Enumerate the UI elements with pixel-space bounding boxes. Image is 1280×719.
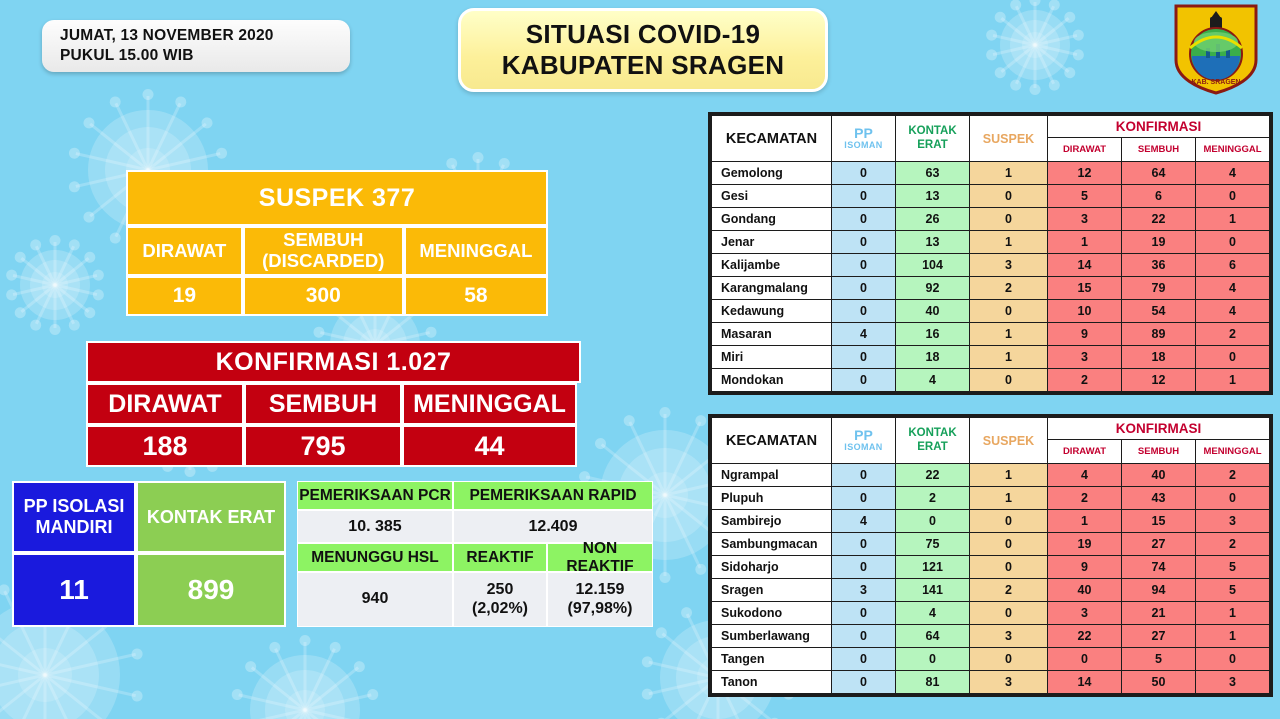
header-bar: JUMAT, 13 NOVEMBER 2020 PUKUL 15.00 WIB …	[0, 0, 1280, 100]
kabupaten-sragen-crest-icon: KAB. SRAGEN	[1170, 2, 1262, 96]
cell-suspek: 0	[970, 533, 1048, 556]
cell-kontak-erat: 4	[896, 369, 970, 392]
cell-pp-isoman: 0	[832, 556, 896, 579]
cell-dirawat: 0	[1048, 648, 1122, 671]
cell-suspek: 0	[970, 556, 1048, 579]
cell-sembuh: 6	[1122, 185, 1196, 208]
table-row: Ngrampal02214402	[712, 464, 1270, 487]
cell-kontak-erat: 92	[896, 277, 970, 300]
cell-kontak-erat: 0	[896, 648, 970, 671]
cell-kontak-erat: 22	[896, 464, 970, 487]
cell-kontak-erat: 75	[896, 533, 970, 556]
cell-meninggal: 6	[1196, 254, 1270, 277]
reaktif-percent: (2,02%)	[472, 600, 528, 619]
cell-meninggal: 4	[1196, 162, 1270, 185]
date-time-card: JUMAT, 13 NOVEMBER 2020 PUKUL 15.00 WIB	[42, 20, 350, 72]
cell-meninggal: 3	[1196, 671, 1270, 694]
suspek-value-sembuh: 300	[243, 276, 404, 316]
cell-sembuh: 5	[1122, 648, 1196, 671]
konfirmasi-summary-panel: KONFIRMASI 1.027 DIRAWAT SEMBUH MENINGGA…	[86, 341, 581, 467]
cell-kecamatan: Karangmalang	[712, 277, 832, 300]
cell-dirawat: 3	[1048, 602, 1122, 625]
cell-suspek: 2	[970, 579, 1048, 602]
cell-kecamatan: Kedawung	[712, 300, 832, 323]
cell-pp-isoman: 4	[832, 510, 896, 533]
cell-sembuh: 12	[1122, 369, 1196, 392]
cell-suspek: 1	[970, 487, 1048, 510]
cell-sembuh: 79	[1122, 277, 1196, 300]
cell-kontak-erat: 13	[896, 231, 970, 254]
pemeriksaan-panel: PEMERIKSAAN PCR PEMERIKSAAN RAPID 10. 38…	[297, 481, 653, 627]
th-pp-main: PP	[832, 428, 895, 443]
cell-sembuh: 15	[1122, 510, 1196, 533]
cell-kecamatan: Gemolong	[712, 162, 832, 185]
table-row: Sragen3141240945	[712, 579, 1270, 602]
cell-meninggal: 2	[1196, 323, 1270, 346]
cell-dirawat: 40	[1048, 579, 1122, 602]
cell-meninggal: 0	[1196, 346, 1270, 369]
cell-meninggal: 1	[1196, 625, 1270, 648]
reaktif-header: REAKTIF	[453, 543, 547, 572]
table-row: Sumberlawang064322271	[712, 625, 1270, 648]
th-konfirmasi: KONFIRMASI	[1048, 418, 1270, 440]
table-row: Sukodono0403211	[712, 602, 1270, 625]
cell-kecamatan: Sambungmacan	[712, 533, 832, 556]
cell-kecamatan: Gesi	[712, 185, 832, 208]
table-row: Gesi0130560	[712, 185, 1270, 208]
cell-kontak-erat: 0	[896, 510, 970, 533]
cell-pp-isoman: 0	[832, 602, 896, 625]
cell-meninggal: 0	[1196, 231, 1270, 254]
cell-kecamatan: Masaran	[712, 323, 832, 346]
cell-sembuh: 36	[1122, 254, 1196, 277]
cell-pp-isoman: 3	[832, 579, 896, 602]
konfirmasi-value-dirawat: 188	[86, 425, 244, 467]
cell-suspek: 3	[970, 625, 1048, 648]
suspek-value-meninggal: 58	[404, 276, 548, 316]
table-row: Mondokan0402121	[712, 369, 1270, 392]
pp-isoman-value: 11	[12, 553, 136, 627]
cell-suspek: 0	[970, 602, 1048, 625]
cell-kontak-erat: 26	[896, 208, 970, 231]
cell-sembuh: 22	[1122, 208, 1196, 231]
cell-pp-isoman: 0	[832, 231, 896, 254]
th-suspek: SUSPEK	[970, 418, 1048, 464]
reaktif-value: 250	[472, 581, 528, 600]
cell-kecamatan: Sumberlawang	[712, 625, 832, 648]
cell-kontak-erat: 141	[896, 579, 970, 602]
cell-kontak-erat: 2	[896, 487, 970, 510]
cell-pp-isoman: 0	[832, 346, 896, 369]
cell-kecamatan: Sukodono	[712, 602, 832, 625]
cell-suspek: 1	[970, 162, 1048, 185]
kecamatan-table-part-2: KECAMATAN PP ISOMAN KONTAK ERAT SUSPEK K…	[708, 414, 1273, 697]
th-kontak-line1: KONTAK	[896, 427, 969, 441]
table-row: Masaran41619892	[712, 323, 1270, 346]
cell-pp-isoman: 0	[832, 464, 896, 487]
cell-suspek: 0	[970, 369, 1048, 392]
th-dirawat: DIRAWAT	[1048, 440, 1122, 464]
cell-dirawat: 4	[1048, 464, 1122, 487]
th-sembuh: SEMBUH	[1122, 440, 1196, 464]
cell-sembuh: 43	[1122, 487, 1196, 510]
th-pp-isoman: PP ISOMAN	[832, 418, 896, 464]
cell-dirawat: 1	[1048, 510, 1122, 533]
th-pp-isoman: PP ISOMAN	[832, 116, 896, 162]
cell-suspek: 1	[970, 464, 1048, 487]
cell-dirawat: 14	[1048, 671, 1122, 694]
th-meninggal: MENINGGAL	[1196, 138, 1270, 162]
th-meninggal: MENINGGAL	[1196, 440, 1270, 464]
suspek-value-dirawat: 19	[126, 276, 243, 316]
cell-dirawat: 12	[1048, 162, 1122, 185]
cell-sembuh: 94	[1122, 579, 1196, 602]
menunggu-hasil-header: MENUNGGU HSL	[297, 543, 453, 572]
cell-pp-isoman: 0	[832, 277, 896, 300]
table-row: Sidoharjo012109745	[712, 556, 1270, 579]
cell-meninggal: 0	[1196, 648, 1270, 671]
non-reaktif-header: NON REAKTIF	[547, 543, 653, 572]
cell-kontak-erat: 121	[896, 556, 970, 579]
pp-isoman-label: PP ISOLASI MANDIRI	[12, 481, 136, 553]
th-dirawat: DIRAWAT	[1048, 138, 1122, 162]
cell-pp-isoman: 0	[832, 533, 896, 556]
cell-sembuh: 64	[1122, 162, 1196, 185]
table-row: Sambirejo4001153	[712, 510, 1270, 533]
cell-sembuh: 19	[1122, 231, 1196, 254]
th-kontak-erat: KONTAK ERAT	[896, 116, 970, 162]
cell-dirawat: 2	[1048, 487, 1122, 510]
non-reaktif-value-block: 12.159 (97,98%)	[547, 572, 653, 627]
cell-meninggal: 5	[1196, 579, 1270, 602]
cell-meninggal: 1	[1196, 208, 1270, 231]
kontak-erat-value: 899	[136, 553, 286, 627]
table-row: Jenar01311190	[712, 231, 1270, 254]
cell-pp-isoman: 0	[832, 671, 896, 694]
cell-kontak-erat: 40	[896, 300, 970, 323]
th-pp-sub: ISOMAN	[832, 141, 895, 151]
cell-meninggal: 0	[1196, 185, 1270, 208]
cell-sembuh: 89	[1122, 323, 1196, 346]
cell-meninggal: 4	[1196, 277, 1270, 300]
cell-kontak-erat: 63	[896, 162, 970, 185]
table-row: Sambungmacan075019272	[712, 533, 1270, 556]
table-row: Kalijambe0104314366	[712, 254, 1270, 277]
cell-kecamatan: Sambirejo	[712, 510, 832, 533]
cell-meninggal: 2	[1196, 533, 1270, 556]
cell-sembuh: 18	[1122, 346, 1196, 369]
cell-kontak-erat: 4	[896, 602, 970, 625]
cell-kontak-erat: 64	[896, 625, 970, 648]
cell-dirawat: 19	[1048, 533, 1122, 556]
cell-dirawat: 3	[1048, 346, 1122, 369]
cell-meninggal: 2	[1196, 464, 1270, 487]
kontak-erat-label: KONTAK ERAT	[136, 481, 286, 553]
cell-kecamatan: Sidoharjo	[712, 556, 832, 579]
cell-kecamatan: Gondang	[712, 208, 832, 231]
table-row: Miri01813180	[712, 346, 1270, 369]
th-suspek: SUSPEK	[970, 116, 1048, 162]
suspek-summary-panel: SUSPEK 377 DIRAWAT SEMBUH (DISCARDED) ME…	[126, 170, 548, 316]
cell-suspek: 3	[970, 254, 1048, 277]
cell-suspek: 3	[970, 671, 1048, 694]
cell-suspek: 1	[970, 323, 1048, 346]
cell-sembuh: 40	[1122, 464, 1196, 487]
cell-dirawat: 9	[1048, 556, 1122, 579]
pcr-value: 10. 385	[297, 510, 453, 543]
th-kecamatan: KECAMATAN	[712, 116, 832, 162]
rapid-value: 12.409	[453, 510, 653, 543]
cell-kontak-erat: 18	[896, 346, 970, 369]
pcr-header: PEMERIKSAAN PCR	[297, 481, 453, 510]
svg-text:KAB. SRAGEN: KAB. SRAGEN	[1191, 79, 1240, 86]
menunggu-hasil-value: 940	[297, 572, 453, 627]
title-line-2: KABUPATEN SRAGEN	[502, 50, 785, 81]
pp-kontak-panel: PP ISOLASI MANDIRI KONTAK ERAT 11 899	[12, 481, 290, 627]
cell-pp-isoman: 0	[832, 162, 896, 185]
cell-meninggal: 0	[1196, 487, 1270, 510]
cell-kontak-erat: 13	[896, 185, 970, 208]
cell-pp-isoman: 0	[832, 648, 896, 671]
cell-dirawat: 15	[1048, 277, 1122, 300]
konfirmasi-header-sembuh: SEMBUH	[244, 383, 402, 425]
cell-meninggal: 3	[1196, 510, 1270, 533]
cell-dirawat: 3	[1048, 208, 1122, 231]
cell-meninggal: 4	[1196, 300, 1270, 323]
reaktif-value-block: 250 (2,02%)	[453, 572, 547, 627]
cell-dirawat: 9	[1048, 323, 1122, 346]
cell-pp-isoman: 0	[832, 487, 896, 510]
title-line-1: SITUASI COVID-19	[526, 19, 761, 50]
th-kontak-line2: ERAT	[896, 139, 969, 153]
cell-dirawat: 14	[1048, 254, 1122, 277]
cell-sembuh: 21	[1122, 602, 1196, 625]
table-row: Gondang02603221	[712, 208, 1270, 231]
th-kontak-line2: ERAT	[896, 441, 969, 455]
cell-dirawat: 2	[1048, 369, 1122, 392]
table-row: Kedawung040010544	[712, 300, 1270, 323]
cell-kecamatan: Tangen	[712, 648, 832, 671]
konfirmasi-title: KONFIRMASI 1.027	[86, 341, 581, 383]
suspek-header-dirawat: DIRAWAT	[126, 226, 243, 276]
cell-sembuh: 54	[1122, 300, 1196, 323]
konfirmasi-header-meninggal: MENINGGAL	[402, 383, 577, 425]
cell-kecamatan: Jenar	[712, 231, 832, 254]
date-line-1: JUMAT, 13 NOVEMBER 2020	[60, 26, 350, 46]
cell-pp-isoman: 0	[832, 185, 896, 208]
date-line-2: PUKUL 15.00 WIB	[60, 46, 350, 66]
th-pp-main: PP	[832, 126, 895, 141]
table-row: Gemolong063112644	[712, 162, 1270, 185]
rapid-header: PEMERIKSAAN RAPID	[453, 481, 653, 510]
cell-kecamatan: Miri	[712, 346, 832, 369]
cell-dirawat: 10	[1048, 300, 1122, 323]
cell-meninggal: 1	[1196, 369, 1270, 392]
virus-icon	[250, 655, 360, 719]
cell-kecamatan: Plupuh	[712, 487, 832, 510]
cell-suspek: 2	[970, 277, 1048, 300]
suspek-title: SUSPEK 377	[126, 170, 548, 226]
cell-dirawat: 1	[1048, 231, 1122, 254]
cell-pp-isoman: 0	[832, 208, 896, 231]
cell-suspek: 0	[970, 510, 1048, 533]
page-title: SITUASI COVID-19 KABUPATEN SRAGEN	[458, 8, 828, 92]
cell-kecamatan: Sragen	[712, 579, 832, 602]
cell-pp-isoman: 0	[832, 300, 896, 323]
th-kecamatan: KECAMATAN	[712, 418, 832, 464]
th-sembuh: SEMBUH	[1122, 138, 1196, 162]
th-konfirmasi: KONFIRMASI	[1048, 116, 1270, 138]
th-pp-sub: ISOMAN	[832, 443, 895, 453]
cell-suspek: 0	[970, 208, 1048, 231]
cell-dirawat: 5	[1048, 185, 1122, 208]
non-reaktif-percent: (97,98%)	[568, 600, 633, 619]
virus-icon	[20, 250, 90, 320]
cell-pp-isoman: 4	[832, 323, 896, 346]
cell-pp-isoman: 0	[832, 625, 896, 648]
cell-sembuh: 27	[1122, 625, 1196, 648]
cell-kontak-erat: 104	[896, 254, 970, 277]
suspek-header-meninggal: MENINGGAL	[404, 226, 548, 276]
cell-kecamatan: Kalijambe	[712, 254, 832, 277]
cell-kecamatan: Mondokan	[712, 369, 832, 392]
cell-pp-isoman: 0	[832, 369, 896, 392]
cell-sembuh: 27	[1122, 533, 1196, 556]
cell-dirawat: 22	[1048, 625, 1122, 648]
cell-kontak-erat: 81	[896, 671, 970, 694]
konfirmasi-value-sembuh: 795	[244, 425, 402, 467]
cell-kontak-erat: 16	[896, 323, 970, 346]
cell-kecamatan: Tanon	[712, 671, 832, 694]
cell-suspek: 0	[970, 648, 1048, 671]
cell-suspek: 0	[970, 185, 1048, 208]
suspek-header-sembuh-line2: (DISCARDED)	[262, 251, 384, 272]
non-reaktif-value: 12.159	[568, 581, 633, 600]
cell-suspek: 1	[970, 231, 1048, 254]
cell-pp-isoman: 0	[832, 254, 896, 277]
pp-isoman-label-line1: PP ISOLASI	[24, 496, 125, 517]
cell-suspek: 1	[970, 346, 1048, 369]
th-kontak-line1: KONTAK	[896, 125, 969, 139]
cell-kecamatan: Ngrampal	[712, 464, 832, 487]
suspek-header-sembuh: SEMBUH (DISCARDED)	[243, 226, 404, 276]
cell-meninggal: 1	[1196, 602, 1270, 625]
table-row: Tangen000050	[712, 648, 1270, 671]
table-row: Karangmalang092215794	[712, 277, 1270, 300]
kecamatan-table-part-1: KECAMATAN PP ISOMAN KONTAK ERAT SUSPEK K…	[708, 112, 1273, 395]
table-row: Tanon081314503	[712, 671, 1270, 694]
cell-sembuh: 74	[1122, 556, 1196, 579]
konfirmasi-value-meninggal: 44	[402, 425, 577, 467]
cell-meninggal: 5	[1196, 556, 1270, 579]
table-row: Plupuh0212430	[712, 487, 1270, 510]
konfirmasi-header-dirawat: DIRAWAT	[86, 383, 244, 425]
pp-isoman-label-line2: MANDIRI	[24, 517, 125, 538]
cell-sembuh: 50	[1122, 671, 1196, 694]
cell-suspek: 0	[970, 300, 1048, 323]
th-kontak-erat: KONTAK ERAT	[896, 418, 970, 464]
suspek-header-sembuh-line1: SEMBUH	[262, 230, 384, 251]
